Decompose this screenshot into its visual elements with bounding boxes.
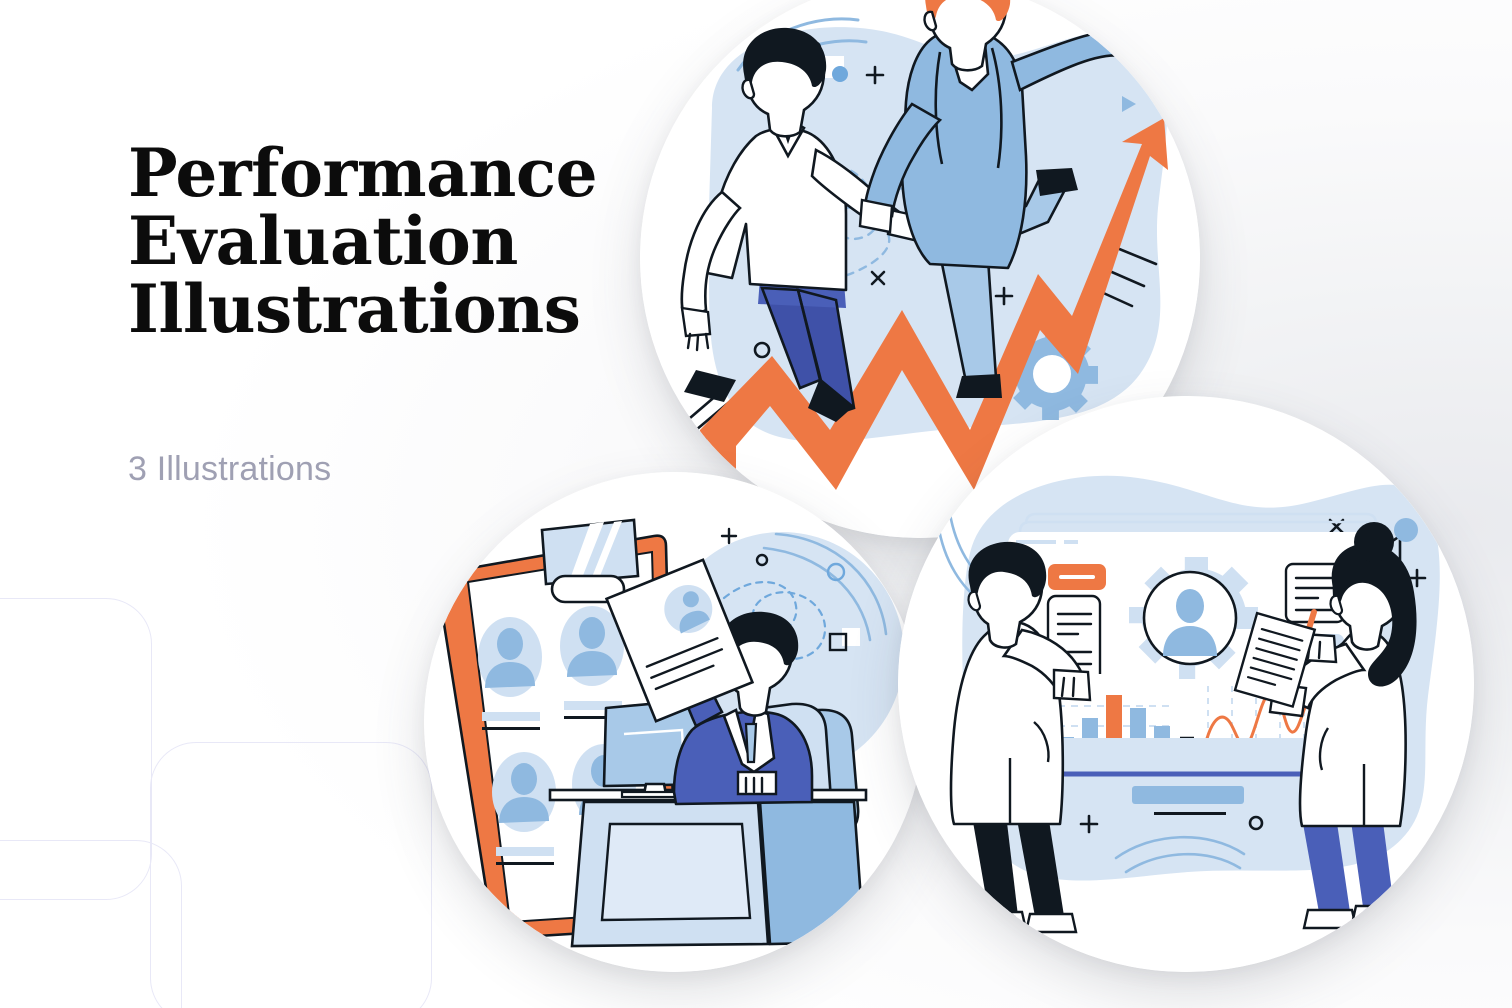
background-rounded-square-3 (0, 840, 182, 1008)
desk (550, 790, 866, 946)
candidate-card (492, 752, 556, 865)
candidate-card (478, 617, 542, 730)
necktie (746, 724, 756, 762)
shoe-back (956, 374, 1002, 398)
candidate-card (560, 606, 624, 719)
illustration-count-label: 3 Illustrations (128, 450, 331, 489)
background-rounded-square-2 (150, 742, 432, 1008)
hair-bun (1354, 522, 1394, 562)
hand (1054, 670, 1090, 700)
page-title: Performance Evaluation Illustrations (128, 140, 648, 344)
poster-canvas: Performance Evaluation Illustrations 3 I… (0, 0, 1512, 1008)
deco-dot-blue (1394, 518, 1418, 542)
hand-on-desk (738, 772, 776, 794)
board-footer-chip (1132, 786, 1244, 804)
hand-down (860, 200, 892, 232)
deco-dot-blue (832, 66, 848, 82)
deco-square-white (842, 628, 860, 646)
illustration-analytics-dashboard[interactable] (898, 396, 1474, 972)
desk-panel (602, 824, 750, 920)
illustration-candidate-review[interactable] (424, 472, 924, 972)
